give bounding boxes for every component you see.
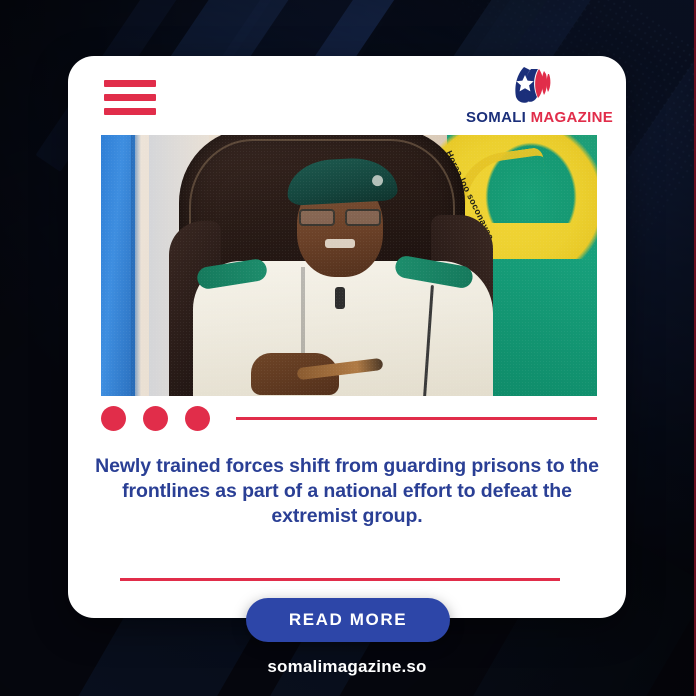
article-photo: Horaa loo soconayaa (101, 135, 597, 396)
bottom-divider (120, 578, 560, 581)
decorative-dot (101, 406, 126, 431)
star-shield-flag-icon (508, 64, 554, 106)
brand-name-primary: SOMALI (466, 109, 526, 126)
brand-logo[interactable]: SOMALI MAGAZINE (466, 64, 596, 126)
social-post-card: SOMALI MAGAZINE Horaa loo soconayaa (0, 0, 696, 696)
read-more-button[interactable]: READ MORE (246, 598, 450, 642)
card-header: SOMALI MAGAZINE (68, 56, 626, 134)
decorative-dot (143, 406, 168, 431)
decorative-dot (185, 406, 210, 431)
decorative-dots-row (101, 404, 597, 432)
hamburger-menu-icon[interactable] (104, 80, 156, 115)
site-url-label: somalimagazine.so (0, 657, 694, 677)
content-card: SOMALI MAGAZINE Horaa loo soconayaa (68, 56, 626, 618)
brand-name: SOMALI MAGAZINE (466, 109, 596, 126)
decorative-rule (236, 417, 597, 420)
brand-name-secondary: MAGAZINE (531, 109, 613, 126)
headline-text: Newly trained forces shift from guarding… (92, 454, 602, 529)
